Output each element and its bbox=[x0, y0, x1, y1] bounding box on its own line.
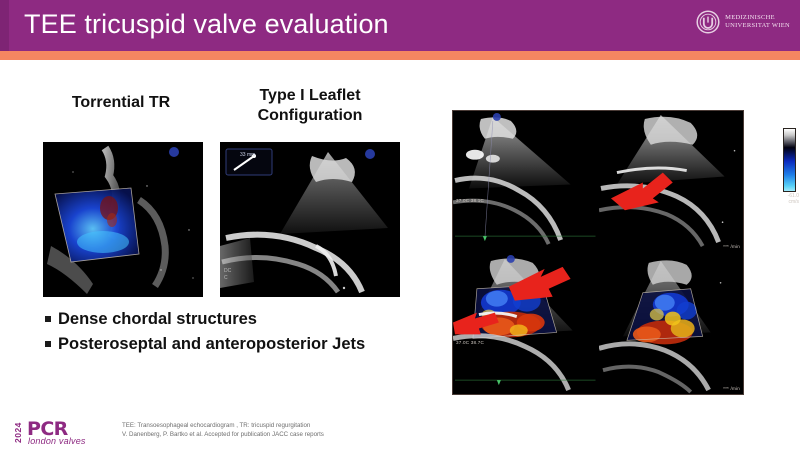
page-title: TEE tricuspid valve evaluation bbox=[24, 9, 389, 40]
heading-torrential-tr: Torrential TR bbox=[36, 93, 206, 113]
panel-br-render bbox=[599, 253, 744, 394]
svg-text:33 mm: 33 mm bbox=[240, 152, 255, 158]
footer-citation: V. Danenberg, P. Bartko et al. Accepted … bbox=[122, 430, 502, 439]
footer-abbreviations: TEE: Transoesophageal echocardiogram , T… bbox=[122, 421, 502, 430]
bullet-square-icon bbox=[45, 341, 51, 347]
velocity-scale-label: -61.0 cm/s bbox=[775, 193, 799, 205]
university-logo-line2: UNIVERSITAT WIEN bbox=[725, 22, 790, 30]
bullet-text: Posteroseptal and anteroposterior Jets bbox=[58, 333, 365, 356]
heading-type-i-leaflet: Type I Leaflet Configuration bbox=[215, 86, 405, 126]
panel-top-left: 37.0C 38.1C bbox=[453, 111, 598, 252]
header-bar: TEE tricuspid valve evaluation MEDIZINIS… bbox=[0, 0, 800, 51]
bullet-square-icon bbox=[45, 316, 51, 322]
header-accent-bar bbox=[0, 51, 800, 60]
list-item: Posteroseptal and anteroposterior Jets bbox=[45, 333, 445, 356]
university-logo: MEDIZINISCHE UNIVERSITAT WIEN bbox=[696, 8, 790, 36]
pcr-logo-year: 2024 bbox=[12, 420, 24, 446]
header-left-accent-strip bbox=[0, 0, 9, 51]
panel-tr-render bbox=[599, 111, 744, 252]
svg-text:C: C bbox=[224, 275, 228, 281]
panel-top-right: *** /min bbox=[599, 111, 744, 252]
panel-bottom-left: 37.0C 38.7C bbox=[453, 253, 598, 394]
university-logo-text: MEDIZINISCHE UNIVERSITAT WIEN bbox=[725, 14, 790, 30]
panel-tl-readout: 37.0C 38.1C bbox=[456, 198, 484, 204]
echo-image-torrential-tr bbox=[43, 142, 203, 297]
panel-br-readout: *** /min bbox=[723, 386, 740, 392]
panel-bl-readout: 37.0C 38.7C bbox=[456, 340, 484, 346]
pcr-logo-subtitle: london valves bbox=[28, 436, 86, 446]
echo-image-type-i-leaflet: 33 mm DC C bbox=[220, 142, 400, 297]
panel-bl-render bbox=[453, 253, 598, 394]
footer-note: TEE: Transoesophageal echocardiogram , T… bbox=[122, 421, 502, 439]
grayscale-echo-render: 33 mm DC C bbox=[220, 142, 400, 297]
university-seal-icon bbox=[696, 10, 720, 34]
probe-angle-indicator: 33 mm bbox=[226, 149, 272, 175]
svg-text:DC: DC bbox=[224, 268, 232, 274]
panel-tl-render bbox=[453, 111, 598, 252]
list-item: Dense chordal structures bbox=[45, 308, 445, 331]
velocity-scale-unit: cm/s bbox=[775, 199, 799, 205]
bullet-list: Dense chordal structures Posteroseptal a… bbox=[45, 308, 445, 358]
panel-bottom-right: *** /min bbox=[599, 253, 744, 394]
bullet-text: Dense chordal structures bbox=[58, 308, 257, 331]
university-logo-line1: MEDIZINISCHE bbox=[725, 14, 790, 22]
panel-tr-readout: *** /min bbox=[723, 244, 740, 250]
velocity-color-scale bbox=[783, 128, 796, 192]
pcr-london-valves-logo: 2024 PCR london valves bbox=[12, 419, 116, 447]
echo-panel-grid: 37.0C 38.1C *** /min bbox=[452, 110, 744, 395]
color-doppler-render bbox=[43, 142, 203, 297]
